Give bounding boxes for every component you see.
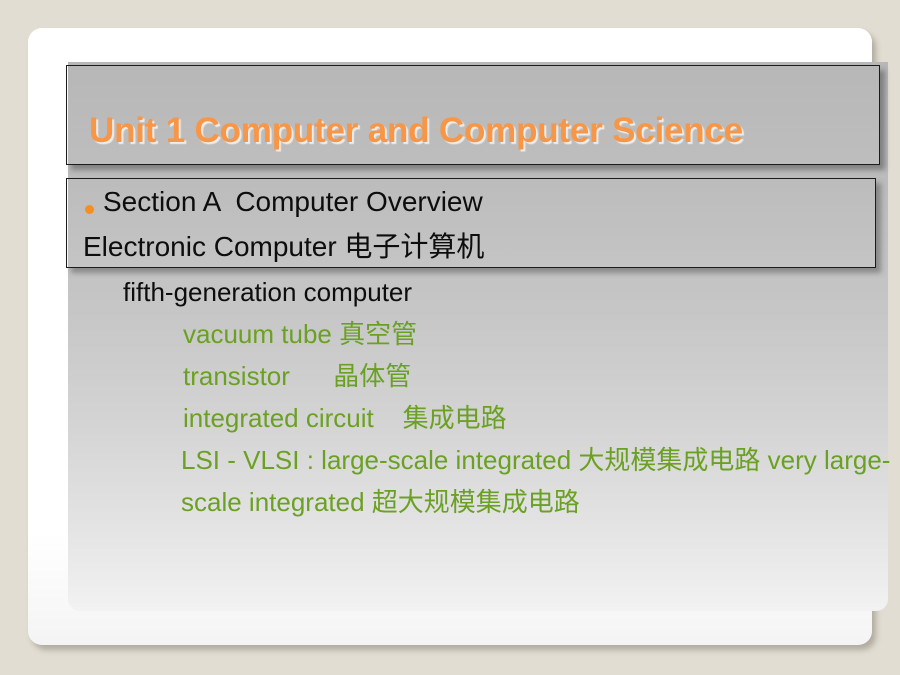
body-item-lsi-vlsi: LSI - VLSI : large-scale integrated 大规模集… — [68, 439, 891, 523]
slide-root: Unit 1 Computer and Computer Science Sec… — [0, 0, 900, 675]
orange-bullet-dot-icon — [85, 205, 94, 214]
title-box: Unit 1 Computer and Computer Science — [66, 65, 880, 165]
slide-frame: Unit 1 Computer and Computer Science Sec… — [28, 28, 872, 645]
section-subheading-label: Electronic Computer 电子计算机 — [83, 225, 484, 265]
body-text-block: fifth-generation computer vacuum tube 真空… — [68, 271, 888, 523]
section-heading-label: Section A Computer Overview — [103, 186, 483, 218]
page-title: Unit 1 Computer and Computer Science — [89, 111, 743, 151]
section-box: Section A Computer Overview Electronic C… — [66, 178, 876, 268]
section-heading-line: Section A Computer Overview — [85, 186, 483, 218]
body-item-integrated-circuit: integrated circuit 集成电路 — [68, 397, 888, 439]
body-heading: fifth-generation computer — [68, 271, 888, 313]
body-item-transistor: transistor 晶体管 — [68, 355, 888, 397]
body-item-vacuum-tube: vacuum tube 真空管 — [68, 313, 888, 355]
